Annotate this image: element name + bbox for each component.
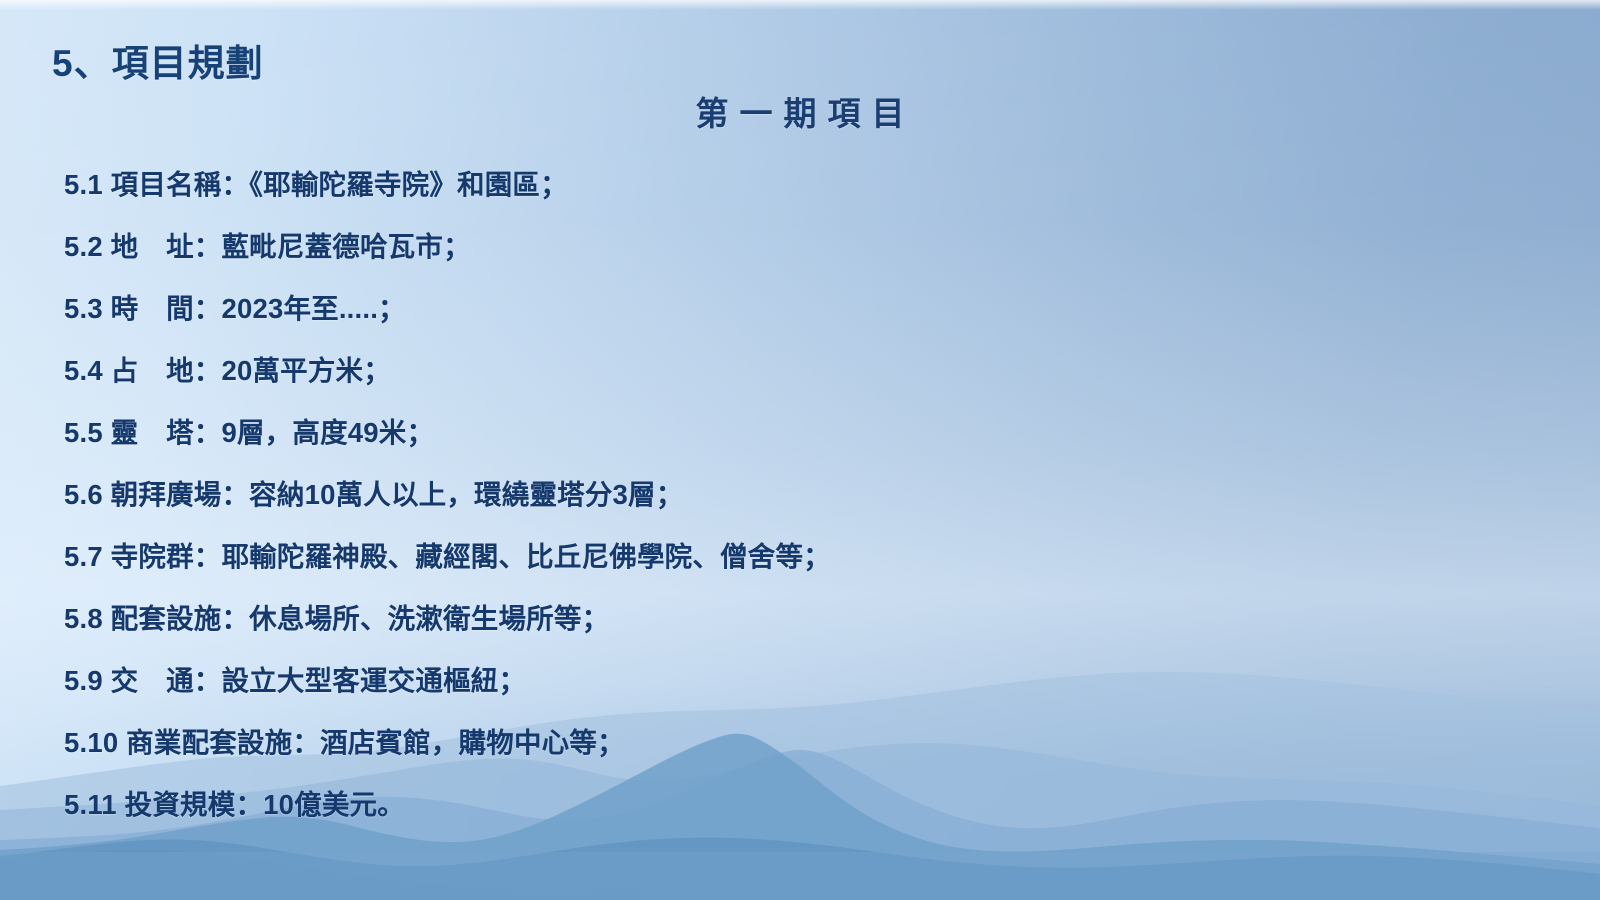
list-item: 5.2 地 址：藍毗尼蓋德哈瓦市；	[64, 224, 1544, 286]
list-item: 5.5 靈 塔：9層，高度49米；	[64, 410, 1544, 472]
page-title: 5、項目規劃	[52, 33, 264, 87]
list-item: 5.9 交 通：設立大型客運交通樞紐；	[64, 658, 1544, 720]
page-subtitle: 第一期項目	[0, 87, 1600, 135]
top-edge-fade	[0, 0, 1600, 10]
list-item: 5.11 投資規模：10億美元。	[64, 782, 1544, 844]
list-item: 5.4 占 地：20萬平方米；	[64, 348, 1544, 410]
list-item: 5.7 寺院群：耶輸陀羅神殿、藏經閣、比丘尼佛學院、僧舍等；	[64, 534, 1544, 596]
list-item: 5.6 朝拜廣場：容納10萬人以上，環繞靈塔分3層；	[64, 472, 1544, 534]
slide-canvas: 5、項目規劃 第一期項目 5.1 項目名稱：《耶輸陀羅寺院》和園區； 5.2 地…	[0, 0, 1600, 900]
list-item: 5.8 配套設施：休息場所、洗漱衛生場所等；	[64, 596, 1544, 658]
bottom-haze	[0, 852, 1600, 900]
list-item: 5.3 時 間：2023年至.....；	[64, 286, 1544, 348]
list-item: 5.10 商業配套設施：酒店賓館，購物中心等；	[64, 720, 1544, 782]
planning-item-list: 5.1 項目名稱：《耶輸陀羅寺院》和園區； 5.2 地 址：藍毗尼蓋德哈瓦市； …	[64, 162, 1544, 844]
list-item: 5.1 項目名稱：《耶輸陀羅寺院》和園區；	[64, 162, 1544, 224]
